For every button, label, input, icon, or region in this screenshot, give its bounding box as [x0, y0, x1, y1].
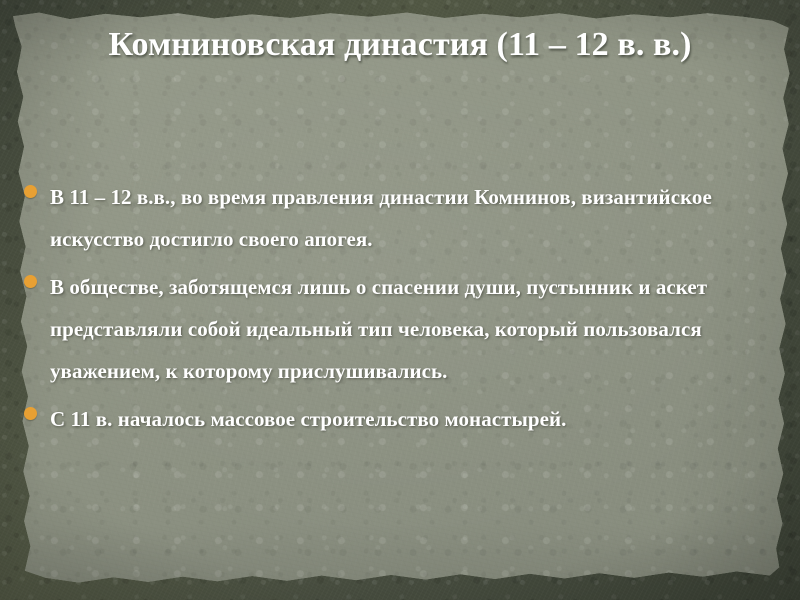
list-item: С 11 в. началось массовое строительство …: [20, 398, 780, 440]
bullet-list: В 11 – 12 в.в., во время правления динас…: [20, 176, 780, 446]
slide-content: Комниновская династия (11 – 12 в. в.) В …: [0, 0, 800, 600]
list-item-text: В 11 – 12 в.в., во время правления динас…: [50, 185, 712, 251]
presentation-slide: Комниновская династия (11 – 12 в. в.) В …: [0, 0, 800, 600]
list-item-text: В обществе, заботящемся лишь о спасении …: [50, 275, 707, 383]
list-item: В 11 – 12 в.в., во время правления динас…: [20, 176, 780, 260]
orange-dot-bullet-icon: [24, 185, 37, 198]
list-item-text: С 11 в. началось массовое строительство …: [50, 407, 566, 431]
orange-dot-bullet-icon: [24, 407, 37, 420]
slide-title: Комниновская династия (11 – 12 в. в.): [40, 22, 760, 67]
orange-dot-bullet-icon: [24, 275, 37, 288]
list-item: В обществе, заботящемся лишь о спасении …: [20, 266, 780, 392]
